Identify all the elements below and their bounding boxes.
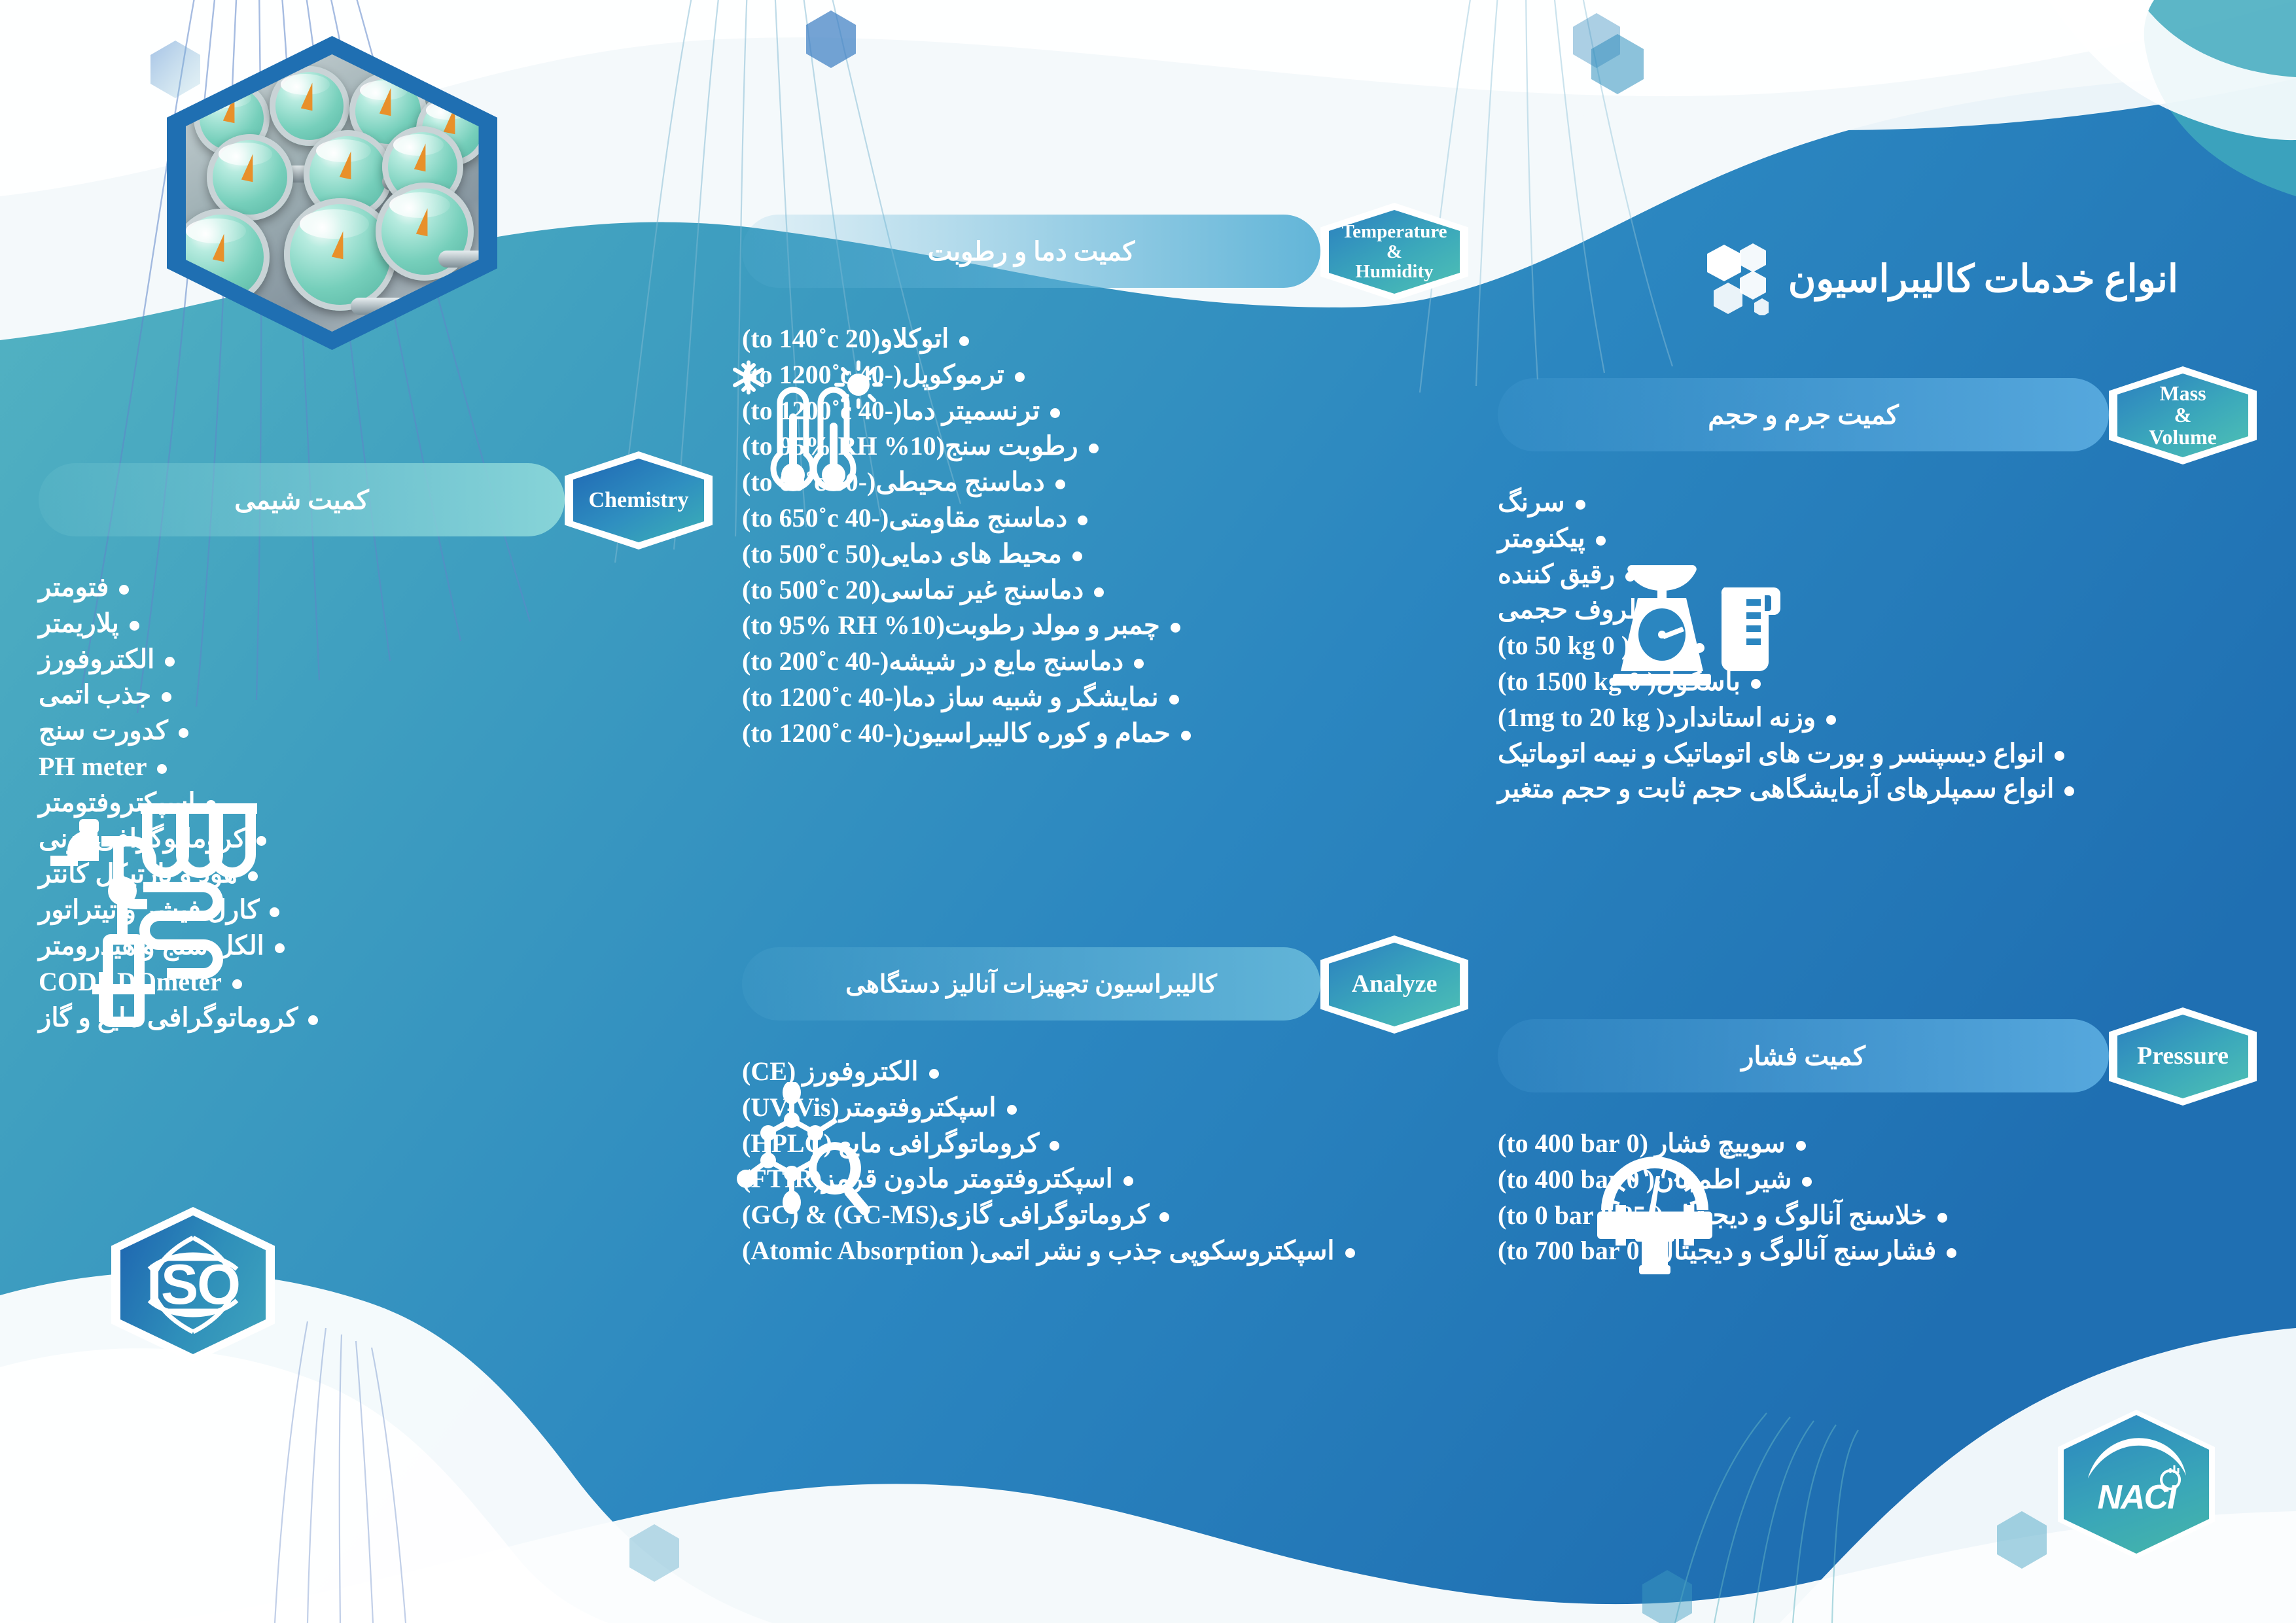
- bullet-dot: [1055, 480, 1065, 489]
- list-item: کدورت سنج: [39, 715, 713, 747]
- bullet-dot: [1345, 1248, 1355, 1258]
- bullet-dot: [179, 728, 188, 738]
- list-item: انواع سمپلرهای آزمایشگاهی حجم ثابت و حجم…: [1498, 773, 2257, 805]
- thermometer-sun-snow-icon: [729, 356, 892, 503]
- list-item: دماسنج مقاومتی(-40 to 650˚c): [742, 502, 1468, 534]
- list-item: پیکنومتر: [1498, 523, 2257, 555]
- bullet-dot: [1802, 1177, 1812, 1187]
- page-title-text: انواع خدمات کالیبراسیون: [1788, 256, 2178, 301]
- list-item: چمبر و مولد رطوبت(10% to 95% RH): [742, 610, 1468, 642]
- section-header-analyze: کالیبراسیون تجهیزات آنالیز دستگاهی Analy…: [742, 935, 1468, 1034]
- hex-line-1-pressure: Pressure: [2137, 1043, 2229, 1070]
- molecule-magnifier-icon: [735, 1082, 886, 1236]
- bullet-dot: [162, 692, 171, 702]
- bullet-dot: [1596, 536, 1606, 546]
- list-wrap-temperature: اتوکلاو(20 to 140˚c) ترموکوپل(-40 to 120…: [742, 323, 1468, 750]
- hex-mass-volume[interactable]: Mass & Volume: [2109, 366, 2257, 464]
- list-item: پلاریمتر: [39, 608, 713, 640]
- bullet-dot: [1576, 500, 1585, 510]
- list-item: فتومتر: [39, 572, 713, 604]
- list-item: انواع دیسپنسر و بورت های اتوماتیک و نیمه…: [1498, 738, 2257, 770]
- section-header-pressure: کمیت فشار Pressure: [1498, 1007, 2257, 1106]
- pill-mass-volume: کمیت جرم و حجم: [1498, 378, 2109, 451]
- hex-pressure[interactable]: Pressure: [2109, 1007, 2257, 1106]
- list-item: حمام و کوره کالیبراسیون(-40 to 1200˚c): [742, 718, 1468, 750]
- section-header-chemistry: کمیت شیمی Chemistry: [39, 451, 713, 550]
- pressure-gauge-icon: [1583, 1147, 1727, 1282]
- list-item: الکتروفورز: [39, 644, 713, 676]
- hex-line-3-mass: Volume: [2149, 427, 2217, 449]
- bullet-dot: [1050, 408, 1060, 418]
- bullet-dot: [2055, 751, 2064, 761]
- list-item: اتوکلاو(20 to 140˚c): [742, 323, 1468, 355]
- bullet-dot: [1015, 372, 1025, 382]
- page-title: انواع خدمات کالیبراسیون: [1697, 242, 2178, 315]
- bullet-dot: [1072, 551, 1082, 561]
- list-item: محیط های دمایی(50 to 500˚c): [742, 538, 1468, 570]
- bullet-dot: [959, 336, 969, 346]
- list-wrap-chemistry: فتومتر پلاریمتر الکتروفورز جذب اتمی کدور…: [39, 572, 713, 1034]
- pill-label-chemistry: کمیت شیمی: [39, 485, 565, 515]
- bullet-dot: [308, 1015, 318, 1025]
- bullet-dot: [1169, 695, 1179, 705]
- hexagon-cluster-logo: [1697, 242, 1769, 315]
- section-mass-volume: کمیت جرم و حجم Mass & Volume: [1498, 366, 2257, 809]
- bullet-dot: [1123, 1176, 1133, 1186]
- hex-temperature[interactable]: Temperature & Humidity: [1320, 203, 1468, 301]
- section-chemistry: کمیت شیمی Chemistry: [39, 451, 713, 1038]
- list-item: سرنگ: [1498, 487, 2257, 519]
- pill-chemistry: کمیت شیمی: [39, 463, 565, 536]
- list-item: جذب اتمی: [39, 679, 713, 711]
- pill-label-analyze: کالیبراسیون تجهیزات آنالیز دستگاهی: [742, 969, 1320, 999]
- pill-temperature: کمیت دما و رطوبت: [742, 215, 1320, 288]
- bullet-dot: [1159, 1212, 1169, 1222]
- pill-pressure: کمیت فشار: [1498, 1019, 2109, 1092]
- section-header-temperature: کمیت دما و رطوبت Temperature & Humidity: [742, 203, 1468, 301]
- pill-label-mass-volume: کمیت جرم و حجم: [1498, 400, 2109, 430]
- hex-line-2-mass: &: [2149, 404, 2217, 427]
- hex-line-1-analyze: Analyze: [1352, 971, 1438, 998]
- bullet-dot: [929, 1069, 939, 1079]
- bullet-dot: [165, 657, 175, 667]
- scale-and-beaker-icon: [1602, 559, 1792, 693]
- bullet-dot: [1134, 659, 1144, 669]
- hex-line-1-temp: Temperature: [1341, 222, 1447, 241]
- section-analyze: کالیبراسیون تجهیزات آنالیز دستگاهی Analy…: [742, 935, 1468, 1271]
- section-header-mass-volume: کمیت جرم و حجم Mass & Volume: [1498, 366, 2257, 464]
- bullet-dot: [1050, 1141, 1059, 1151]
- bullet-dot: [1937, 1213, 1947, 1223]
- bullet-dot: [1171, 623, 1180, 633]
- list-item: دماسنج غیر تماسی(20 to 500˚c): [742, 574, 1468, 606]
- lab-faucet-testtubes-icon: [45, 768, 261, 1033]
- hex-line-1-chem: Chemistry: [589, 489, 689, 512]
- section-pressure: کمیت فشار Pressure: [1498, 1007, 2257, 1271]
- hex-line-2-temp: &: [1341, 242, 1447, 262]
- bullet-dot: [1826, 715, 1836, 725]
- bullet-dot: [1094, 587, 1104, 597]
- list-item: دماسنج مایع در شیشه(-40 to 200˚c): [742, 646, 1468, 678]
- bullet-dot: [130, 621, 139, 631]
- list-item: وزنه استاندارد( 1mg to 20 kg): [1498, 702, 2257, 734]
- section-temperature-humidity: کمیت دما و رطوبت Temperature & Humidity: [742, 203, 1468, 754]
- hex-line-3-temp: Humidity: [1341, 262, 1447, 281]
- bullet-dot: [1007, 1105, 1017, 1115]
- hex-analyze[interactable]: Analyze: [1320, 935, 1468, 1034]
- bullet-dot: [1796, 1141, 1806, 1151]
- list-item: اسپکتروسکوپی جذب و نشر اتمی( Atomic Abso…: [742, 1235, 1468, 1267]
- list-wrap-analyze: الکتروفورز (CE) اسپکتروفتومتر(UV-Vis) کر…: [742, 1056, 1468, 1267]
- iso-label: ISO: [147, 1253, 239, 1318]
- brochure-canvas: انواع خدمات کالیبراسیون کمیت جرم و حجم M…: [0, 0, 2296, 1623]
- bullet-dot: [1947, 1248, 1956, 1258]
- pill-analyze: کالیبراسیون تجهیزات آنالیز دستگاهی: [742, 947, 1320, 1021]
- bullet-dot: [1089, 444, 1099, 453]
- bullet-dot: [270, 907, 279, 917]
- hex-chemistry[interactable]: Chemistry: [565, 451, 713, 550]
- bullet-dot: [1181, 731, 1191, 741]
- bullet-dot: [119, 585, 129, 595]
- list-wrap-pressure: سوییچ فشار (0 to 400 bar) شیر اطمینان( 0…: [1498, 1128, 2257, 1267]
- bullet-dot: [275, 943, 285, 953]
- list-item: نمایشگر و شبیه ساز دما(-40 to 1200˚c): [742, 682, 1468, 714]
- bullet-dot: [1078, 515, 1087, 525]
- list-wrap-mass-volume: سرنگ پیکنومتر رقیق کننده ظروف حجمی ترازو…: [1498, 487, 2257, 805]
- pill-label-pressure: کمیت فشار: [1498, 1041, 2109, 1072]
- pill-label-temperature: کمیت دما و رطوبت: [742, 236, 1320, 267]
- naci-label: NACI: [2097, 1478, 2175, 1517]
- bullet-dot: [2064, 786, 2074, 796]
- hex-line-1-mass: Mass: [2149, 383, 2217, 405]
